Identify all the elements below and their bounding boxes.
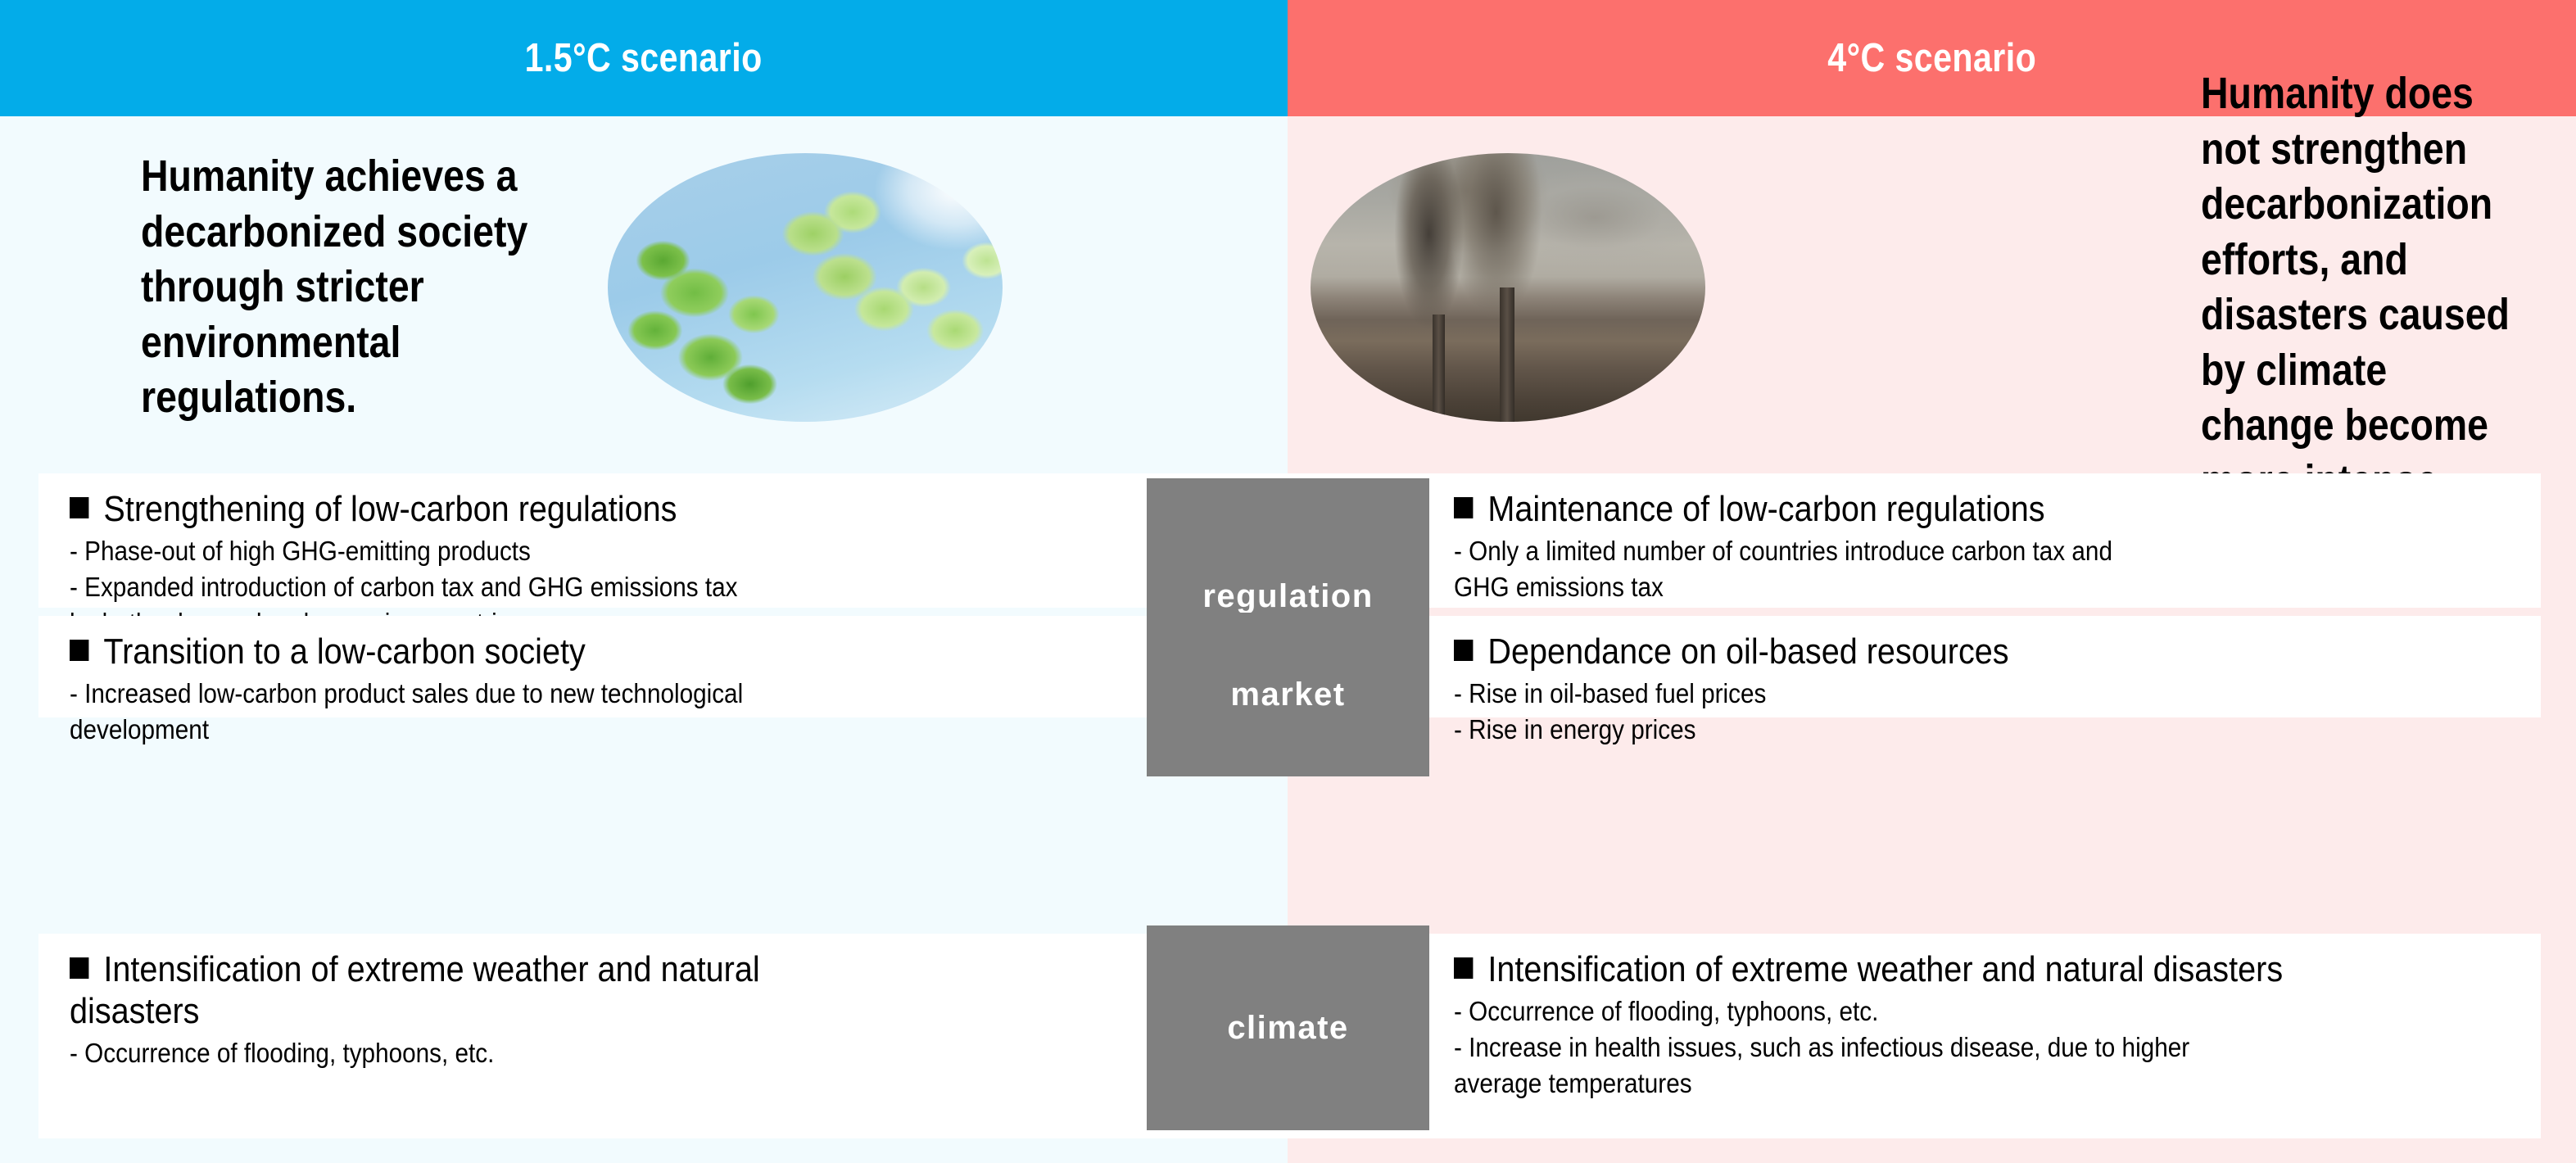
intro-right: Humanity does not strengthen decarboniza… — [1288, 116, 2576, 459]
row-regulation-right-heading-text: Maintenance of low-carbon regulations — [1487, 489, 2044, 529]
row-regulation-right-details: - Only a limited number of countries int… — [1454, 533, 2542, 605]
intro-left: Humanity achieves a decarbonized society… — [0, 116, 1288, 459]
category-chip-climate-label: climate — [1227, 1010, 1348, 1047]
green-leaves-photo — [608, 153, 1003, 422]
row-market-right-heading: Dependance on oil-based resources — [1454, 631, 2542, 672]
row-market-left-details: - Increased low-carbon product sales due… — [70, 676, 1127, 748]
row-market-left-content: Transition to a low-carbon society - Inc… — [38, 616, 1128, 748]
row-market-left-heading-text: Transition to a low-carbon society — [103, 631, 585, 672]
row-climate-left-content: Intensification of extreme weather and n… — [38, 934, 1128, 1071]
row-climate-left-heading: Intensification of extreme weather and n… — [70, 948, 1127, 1032]
bullet-square-icon — [70, 640, 88, 661]
row-climate-left-heading-text: Intensification of extreme weather and n… — [70, 949, 760, 1031]
row-regulation-left-heading-text: Strengthening of low-carbon regulations — [103, 489, 677, 529]
smokestack-left-icon — [1433, 315, 1445, 422]
row-climate-right-heading-text: Intensification of extreme weather and n… — [1487, 949, 2283, 989]
category-chip-market-label: market — [1230, 677, 1345, 713]
row-climate-right-content: Intensification of extreme weather and n… — [1454, 934, 2543, 1102]
smokestacks-photo — [1311, 153, 1705, 422]
row-market-right-content: Dependance on oil-based resources - Rise… — [1454, 616, 2543, 748]
row-regulation-right-heading: Maintenance of low-carbon regulations — [1454, 488, 2542, 530]
row-climate-right-details: - Occurrence of flooding, typhoons, etc.… — [1454, 993, 2542, 1102]
row-climate: Intensification of extreme weather and n… — [0, 934, 2576, 1138]
intro-left-text: Humanity achieves a decarbonized society… — [141, 149, 536, 426]
row-market-left-heading: Transition to a low-carbon society — [70, 631, 1127, 672]
header-left-title: 1.5°C scenario — [525, 35, 763, 81]
bullet-square-icon — [1454, 497, 1473, 518]
bullet-square-icon — [70, 957, 88, 979]
row-regulation-right-content: Maintenance of low-carbon regulations - … — [1454, 473, 2543, 605]
header-right-title: 4°C scenario — [1827, 35, 2036, 81]
bullet-square-icon — [1454, 957, 1473, 979]
category-chip-climate[interactable]: climate — [1147, 925, 1429, 1130]
header-left-scenario: 1.5°C scenario — [0, 0, 1288, 116]
smokestack-right-icon — [1500, 287, 1514, 422]
category-chip-regulation-label: regulation — [1202, 578, 1373, 615]
intro-right-text: Humanity does not strengthen decarboniza… — [2201, 66, 2524, 509]
row-market-right-heading-text: Dependance on oil-based resources — [1487, 631, 2008, 672]
bullet-square-icon — [1454, 640, 1473, 661]
category-chip-market[interactable]: market — [1147, 613, 1429, 776]
row-climate-right-heading: Intensification of extreme weather and n… — [1454, 948, 2542, 990]
row-market: Transition to a low-carbon society - Inc… — [0, 616, 2576, 717]
row-regulation: Strengthening of low-carbon regulations … — [0, 473, 2576, 608]
scenario-comparison-slide: 1.5°C scenario 4°C scenario Humanity ach… — [0, 0, 2576, 1163]
row-market-right-details: - Rise in oil-based fuel prices - Rise i… — [1454, 676, 2542, 748]
row-climate-left-details: - Occurrence of flooding, typhoons, etc. — [70, 1035, 1127, 1071]
bullet-square-icon — [70, 497, 88, 518]
row-regulation-left-heading: Strengthening of low-carbon regulations — [70, 488, 1127, 530]
